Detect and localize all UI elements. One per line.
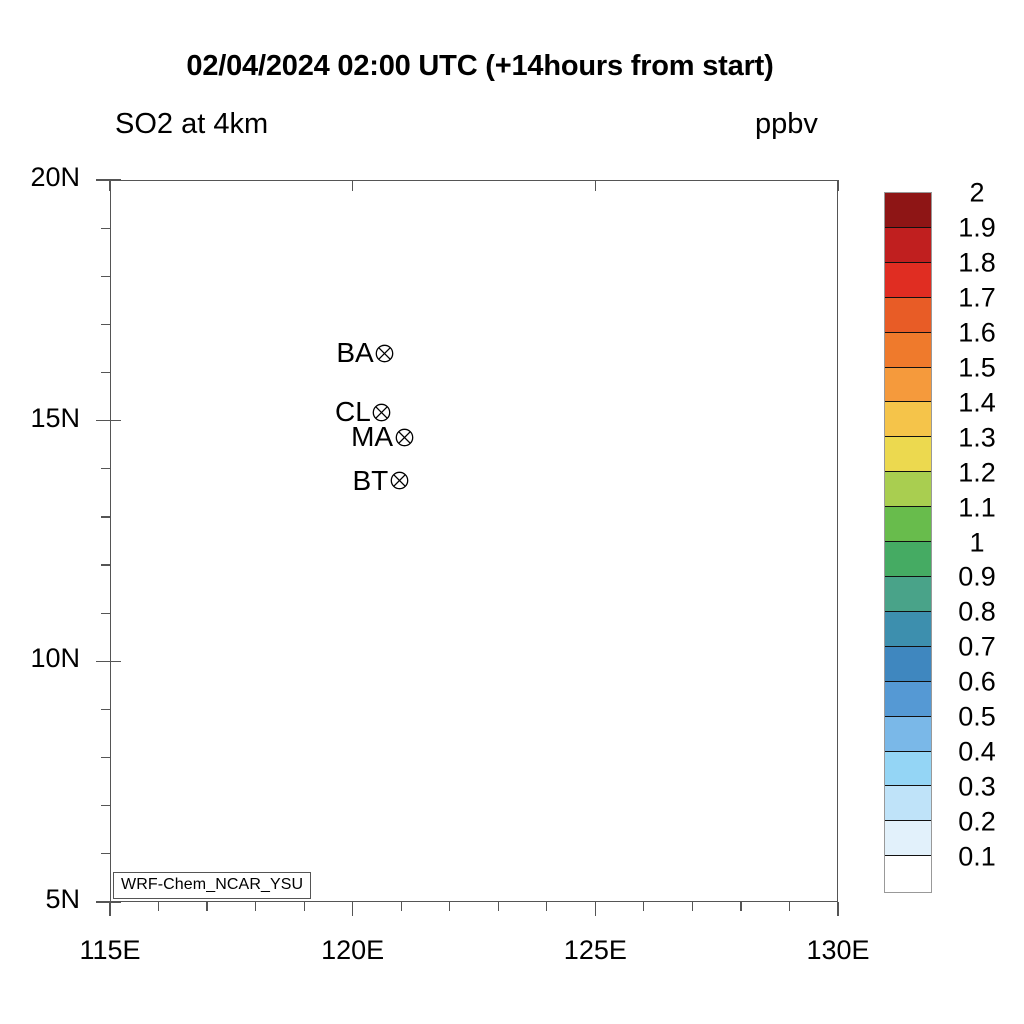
- colorbar-units-label: ppbv: [755, 108, 818, 141]
- colorbar-band: [885, 333, 931, 368]
- y-axis-inner-tick: [110, 420, 121, 421]
- colorbar-band: [885, 437, 931, 472]
- y-axis-minor-tick: [101, 324, 110, 325]
- colorbar-tick-label: 1.7: [934, 285, 1020, 312]
- x-axis-tick-label: 130E: [768, 935, 908, 966]
- x-axis-minor-tick: [789, 902, 790, 911]
- colorbar-tick-label: 0.3: [934, 773, 1020, 800]
- colorbar-band: [885, 647, 931, 682]
- colorbar-band: [885, 507, 931, 542]
- colorbar-tick-label: 1.8: [934, 250, 1020, 277]
- x-axis-tick-label: 115E: [40, 935, 180, 966]
- x-axis-major-tick: [352, 902, 354, 916]
- colorbar-band: [885, 472, 931, 507]
- y-axis-tick-label: 5N: [0, 884, 80, 915]
- colorbar-band: [885, 752, 931, 787]
- y-axis-inner-tick: [110, 901, 121, 902]
- y-axis-minor-tick: [101, 757, 110, 758]
- colorbar-tick-label: 0.9: [934, 564, 1020, 591]
- station-label: BA: [336, 337, 374, 369]
- x-axis-minor-tick: [206, 902, 207, 911]
- x-axis-inner-tick: [352, 180, 353, 191]
- colorbar-tick-label: 0.5: [934, 704, 1020, 731]
- circled-x-icon: [372, 403, 391, 422]
- y-axis-minor-tick: [101, 228, 110, 229]
- colorbar-tick-label: 0.1: [934, 843, 1020, 870]
- colorbar-tick-label: 1.5: [934, 354, 1020, 381]
- colorbar-tick-label: 1.4: [934, 389, 1020, 416]
- colorbar-band: [885, 821, 931, 856]
- x-axis-minor-tick: [304, 902, 305, 911]
- y-axis-minor-tick: [101, 372, 110, 373]
- circled-x-icon: [390, 471, 409, 490]
- colorbar-tick-label: 1.6: [934, 319, 1020, 346]
- y-axis-major-tick: [96, 420, 110, 422]
- x-axis-minor-tick: [158, 902, 159, 911]
- x-axis-inner-tick: [109, 180, 110, 191]
- colorbar-band: [885, 193, 931, 228]
- colorbar-tick-labels: 0.10.20.30.40.50.60.70.80.911.11.21.31.4…: [934, 192, 1020, 893]
- colorbar-tick-label: 0.6: [934, 669, 1020, 696]
- y-axis-tick-label: 20N: [0, 162, 80, 193]
- y-axis-tick-label: 10N: [0, 643, 80, 674]
- colorbar-tick-label: 1.9: [934, 215, 1020, 242]
- y-axis-minor-tick: [101, 564, 110, 565]
- x-axis-inner-tick: [595, 180, 596, 191]
- plot-frame: [110, 180, 838, 902]
- colorbar-band: [885, 856, 931, 891]
- y-axis-minor-tick: [101, 853, 110, 854]
- x-axis-minor-tick: [643, 902, 644, 911]
- x-axis-major-tick: [595, 902, 597, 916]
- x-axis-inner-tick: [837, 180, 838, 191]
- x-axis-tick-label: 120E: [283, 935, 423, 966]
- x-axis-minor-tick: [692, 902, 693, 911]
- y-axis-minor-tick: [101, 516, 110, 517]
- colorbar-band: [885, 542, 931, 577]
- colorbar-tick-label: 1.2: [934, 459, 1020, 486]
- colorbar-band: [885, 263, 931, 298]
- colorbar-tick-label: 0.4: [934, 739, 1020, 766]
- colorbar-band: [885, 577, 931, 612]
- colorbar-tick-label: 1: [934, 529, 1020, 556]
- y-axis-tick-label: 15N: [0, 403, 80, 434]
- y-axis-inner-tick: [110, 661, 121, 662]
- circled-x-icon: [375, 344, 394, 363]
- colorbar-tick-label: 2: [934, 180, 1020, 207]
- station-label: BT: [352, 465, 389, 497]
- colorbar-band: [885, 402, 931, 437]
- colorbar-band: [885, 717, 931, 752]
- y-axis-minor-tick: [101, 709, 110, 710]
- colorbar-tick-label: 1.1: [934, 494, 1020, 521]
- x-axis-minor-tick: [449, 902, 450, 911]
- y-axis-minor-tick: [101, 613, 110, 614]
- circled-x-icon: [395, 428, 414, 447]
- colorbar-band: [885, 298, 931, 333]
- y-axis-major-tick: [96, 901, 110, 903]
- x-axis-minor-tick: [546, 902, 547, 911]
- x-axis-major-tick: [109, 902, 111, 916]
- colorbar-band: [885, 612, 931, 647]
- y-axis-minor-tick: [101, 468, 110, 469]
- x-axis-minor-tick: [401, 902, 402, 911]
- colorbar[interactable]: [884, 192, 932, 893]
- colorbar-band: [885, 786, 931, 821]
- station-label: MA: [351, 421, 394, 453]
- y-axis-major-tick: [96, 179, 110, 181]
- x-axis-major-tick: [837, 902, 839, 916]
- x-axis-minor-tick: [255, 902, 256, 911]
- so2-forecast-map: 02/04/2024 02:00 UTC (+14hours from star…: [0, 0, 1024, 1024]
- x-axis-minor-tick: [498, 902, 499, 911]
- page-title: 02/04/2024 02:00 UTC (+14hours from star…: [0, 50, 960, 83]
- colorbar-tick-label: 0.2: [934, 808, 1020, 835]
- y-axis-major-tick: [96, 661, 110, 663]
- plot-subtitle: SO2 at 4km: [115, 108, 268, 141]
- colorbar-tick-label: 0.7: [934, 634, 1020, 661]
- model-attribution-tag: WRF-Chem_NCAR_YSU: [113, 872, 311, 899]
- y-axis-inner-tick: [110, 179, 121, 180]
- colorbar-tick-label: 0.8: [934, 599, 1020, 626]
- y-axis-minor-tick: [101, 276, 110, 277]
- colorbar-band: [885, 368, 931, 403]
- x-axis-minor-tick: [740, 902, 741, 911]
- colorbar-tick-label: 1.3: [934, 424, 1020, 451]
- y-axis-minor-tick: [101, 805, 110, 806]
- x-axis-tick-label: 125E: [525, 935, 665, 966]
- colorbar-band: [885, 682, 931, 717]
- colorbar-band: [885, 228, 931, 263]
